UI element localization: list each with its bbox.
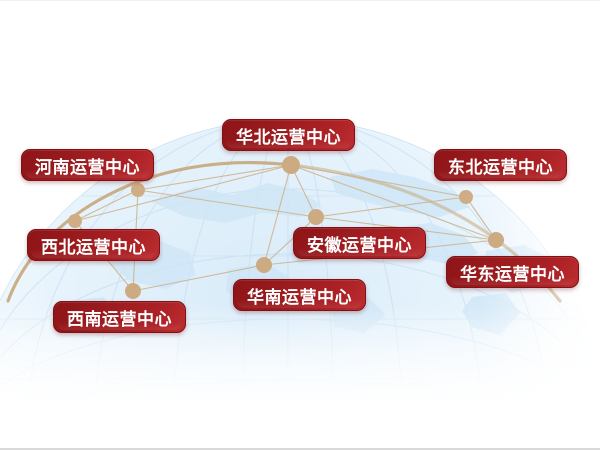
connection-line-huabei-huanan: [264, 165, 291, 265]
center-label-huabei[interactable]: 华北运营中心: [222, 119, 355, 151]
network-map-canvas: 河南运营中心华北运营中心东北运营中心西北运营中心安徽运营中心华东运营中心华南运营…: [0, 0, 600, 450]
node-dot-anhui[interactable]: [308, 209, 324, 225]
node-dot-xibei[interactable]: [68, 214, 82, 228]
center-label-dongbei[interactable]: 东北运营中心: [434, 149, 567, 181]
node-dot-henan[interactable]: [131, 183, 145, 197]
connection-line-huabei-henan: [138, 165, 291, 190]
connection-line-henan-anhui: [138, 190, 316, 217]
node-dot-xinan[interactable]: [125, 283, 141, 299]
node-dot-huadong[interactable]: [488, 232, 504, 248]
node-dot-dongbei[interactable]: [459, 190, 473, 204]
network-graph: [0, 1, 600, 450]
center-label-huadong[interactable]: 华东运营中心: [446, 256, 579, 288]
node-dot-huanan[interactable]: [256, 257, 272, 273]
center-label-henan[interactable]: 河南运营中心: [21, 149, 154, 181]
center-label-xinan[interactable]: 西南运营中心: [53, 301, 186, 333]
node-dot-huabei[interactable]: [282, 156, 300, 174]
center-label-huanan[interactable]: 华南运营中心: [233, 279, 366, 311]
center-label-anhui[interactable]: 安徽运营中心: [293, 227, 426, 259]
center-label-xibei[interactable]: 西北运营中心: [27, 229, 160, 261]
